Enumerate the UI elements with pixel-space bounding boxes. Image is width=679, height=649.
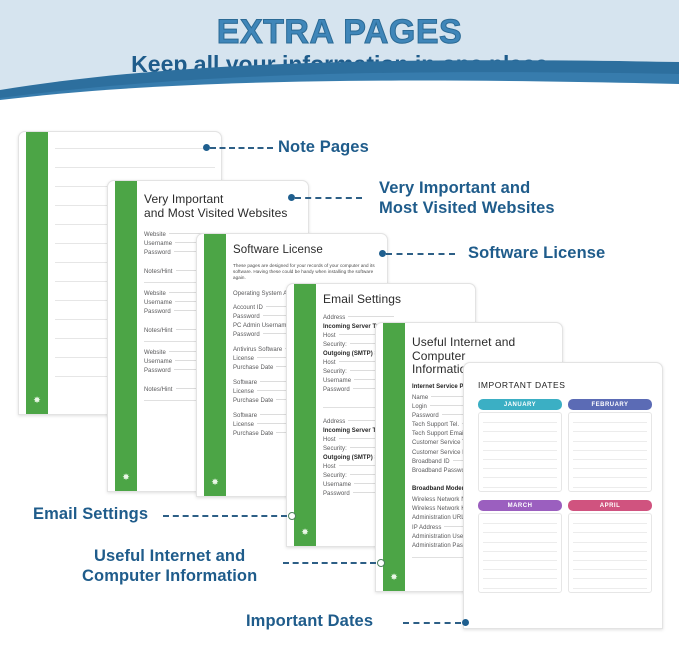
month-write-lines[interactable] [568, 412, 652, 492]
field-label: Security: [323, 369, 347, 375]
write-line [483, 532, 557, 533]
field-label: License [233, 389, 254, 395]
ruled-line [55, 167, 215, 168]
write-line [573, 588, 647, 589]
write-line [483, 560, 557, 561]
field-label: Tech Support Email [412, 431, 465, 437]
month-block-february[interactable]: FEBRUARY [568, 399, 652, 492]
write-line [573, 468, 647, 469]
write-line [483, 422, 557, 423]
write-line [573, 542, 647, 543]
month-header-february: FEBRUARY [568, 399, 652, 410]
write-line [573, 431, 647, 432]
field-label: Password [412, 413, 439, 419]
write-line [573, 578, 647, 579]
field-label: Username [144, 300, 172, 306]
field-label: License [233, 422, 254, 428]
card-heading: Very Important and Most Visited Websites [144, 193, 300, 220]
header-wave-decoration [0, 60, 679, 112]
header-banner: EXTRA PAGES Keep all your information in… [0, 0, 679, 112]
field-label: Password [233, 332, 260, 338]
write-line [483, 468, 557, 469]
write-line [573, 459, 647, 460]
card-heading: IMPORTANT DATES [478, 380, 652, 390]
write-line [483, 431, 557, 432]
spine-star-icon: ✸ [390, 573, 398, 582]
field-label: Broadband ID [412, 459, 450, 465]
month-header-april: APRIL [568, 500, 652, 511]
field-label: Security: [323, 446, 347, 452]
field-label: Host [323, 464, 336, 470]
important-dates-content: IMPORTANT DATES JANUARYFEBRUARYMARCHAPRI… [478, 363, 652, 628]
write-line [573, 422, 647, 423]
field-label: Notes/Hint [144, 269, 173, 275]
card-heading: Software License [233, 244, 379, 258]
write-line [483, 569, 557, 570]
field-label: Security: [323, 342, 347, 348]
field-label: Host [323, 360, 336, 366]
field-label: Password [323, 387, 350, 393]
write-line [483, 487, 557, 488]
leader-dot-useful-internet [377, 559, 385, 567]
field-label: Login [412, 404, 427, 410]
field-label: Username [144, 241, 172, 247]
write-line [483, 450, 557, 451]
field-label: Password [144, 250, 171, 256]
field-label: Software [233, 380, 257, 386]
field-label: Purchase Date [233, 365, 273, 371]
write-line [483, 477, 557, 478]
field-label: Address [323, 419, 345, 425]
leader-dot-software-license [379, 250, 386, 257]
write-line [573, 487, 647, 488]
field-label: Administration URL [412, 515, 465, 521]
field-label: Purchase Date [233, 431, 273, 437]
write-line [483, 441, 557, 442]
write-line [573, 532, 647, 533]
field-label: Host [323, 437, 336, 443]
write-line [483, 542, 557, 543]
month-block-march[interactable]: MARCH [478, 500, 562, 593]
field-label: Notes/Hint [144, 328, 173, 334]
field-label: Software [233, 413, 257, 419]
field-label: PC Admin Username [233, 323, 290, 329]
leader-line-email-settings [163, 515, 287, 518]
card-important-dates[interactable]: IMPORTANT DATES JANUARYFEBRUARYMARCHAPRI… [463, 362, 663, 629]
field-label: Password [144, 309, 171, 315]
card-spine-green: ✸ [383, 323, 405, 591]
field-label: Password [323, 491, 350, 497]
field-label: License [233, 356, 254, 362]
write-line [483, 588, 557, 589]
write-line [483, 523, 557, 524]
annotation-very-important: Very Important and Most Visited Websites [379, 178, 555, 218]
write-line [483, 578, 557, 579]
field-label: Address [323, 315, 345, 321]
field-label: Host [323, 333, 336, 339]
spine-star-icon: ✸ [122, 473, 130, 482]
card-description: These pages are designed for your record… [233, 263, 379, 282]
card-heading: Email Settings [323, 293, 467, 307]
month-write-lines[interactable] [478, 513, 562, 593]
field-label: IP Address [412, 525, 441, 531]
leader-line-very-important [295, 197, 362, 200]
field-label: Purchase Date [233, 398, 273, 404]
card-spine-green: ✸ [115, 181, 137, 491]
leader-line-useful-internet [283, 562, 376, 565]
write-line [573, 560, 647, 561]
field-write-rule [348, 315, 394, 317]
month-write-lines[interactable] [478, 412, 562, 492]
field-label: Website [144, 232, 166, 238]
extra-pages-infographic: EXTRA PAGES Keep all your information in… [0, 0, 679, 649]
field-label: Name [412, 395, 428, 401]
field-row[interactable]: Address [323, 315, 467, 321]
write-line [573, 523, 647, 524]
field-label: Website [144, 291, 166, 297]
annotation-useful-internet: Useful Internet and Computer Information [82, 546, 257, 586]
month-write-lines[interactable] [568, 513, 652, 593]
field-label: Tech Support Tel. [412, 422, 459, 428]
write-line [573, 477, 647, 478]
field-label: Password [233, 314, 260, 320]
field-label: Notes/Hint [144, 387, 173, 393]
card-spine-green: ✸ [294, 284, 316, 546]
field-label: Account ID [233, 305, 263, 311]
leader-dot-important-dates [462, 619, 469, 626]
field-label: Password [144, 368, 171, 374]
annotation-software-license: Software License [468, 243, 605, 263]
card-spine-green: ✸ [204, 234, 226, 496]
leader-dot-email-settings [288, 512, 296, 520]
month-header-march: MARCH [478, 500, 562, 511]
write-line [483, 551, 557, 552]
write-line [573, 569, 647, 570]
month-block-april[interactable]: APRIL [568, 500, 652, 593]
card-spine-green: ✸ [26, 132, 48, 414]
annotation-important-dates: Important Dates [246, 611, 373, 631]
field-label: Website [144, 350, 166, 356]
ruled-line [55, 148, 215, 149]
month-block-january[interactable]: JANUARY [478, 399, 562, 492]
leader-line-note-pages [210, 147, 273, 150]
months-grid: JANUARYFEBRUARYMARCHAPRIL [478, 399, 652, 599]
leader-line-software-license [386, 253, 455, 256]
field-label: Username [144, 359, 172, 365]
field-label: Username [323, 482, 351, 488]
spine-star-icon: ✸ [301, 528, 309, 537]
field-label: Username [323, 378, 351, 384]
leader-dot-very-important [288, 194, 295, 201]
page-title: EXTRA PAGES [0, 12, 679, 52]
field-label: Antivirus Software [233, 347, 282, 353]
spine-star-icon: ✸ [33, 396, 41, 405]
annotation-note-pages: Note Pages [278, 137, 369, 157]
leader-line-important-dates [403, 622, 461, 625]
write-line [483, 459, 557, 460]
spine-star-icon: ✸ [211, 478, 219, 487]
month-header-january: JANUARY [478, 399, 562, 410]
write-line [573, 551, 647, 552]
field-label: Security: [323, 473, 347, 479]
leader-dot-note-pages [203, 144, 210, 151]
field-label: Broadband Password [412, 468, 470, 474]
write-line [573, 450, 647, 451]
annotation-email-settings: Email Settings [33, 504, 148, 524]
write-line [573, 441, 647, 442]
